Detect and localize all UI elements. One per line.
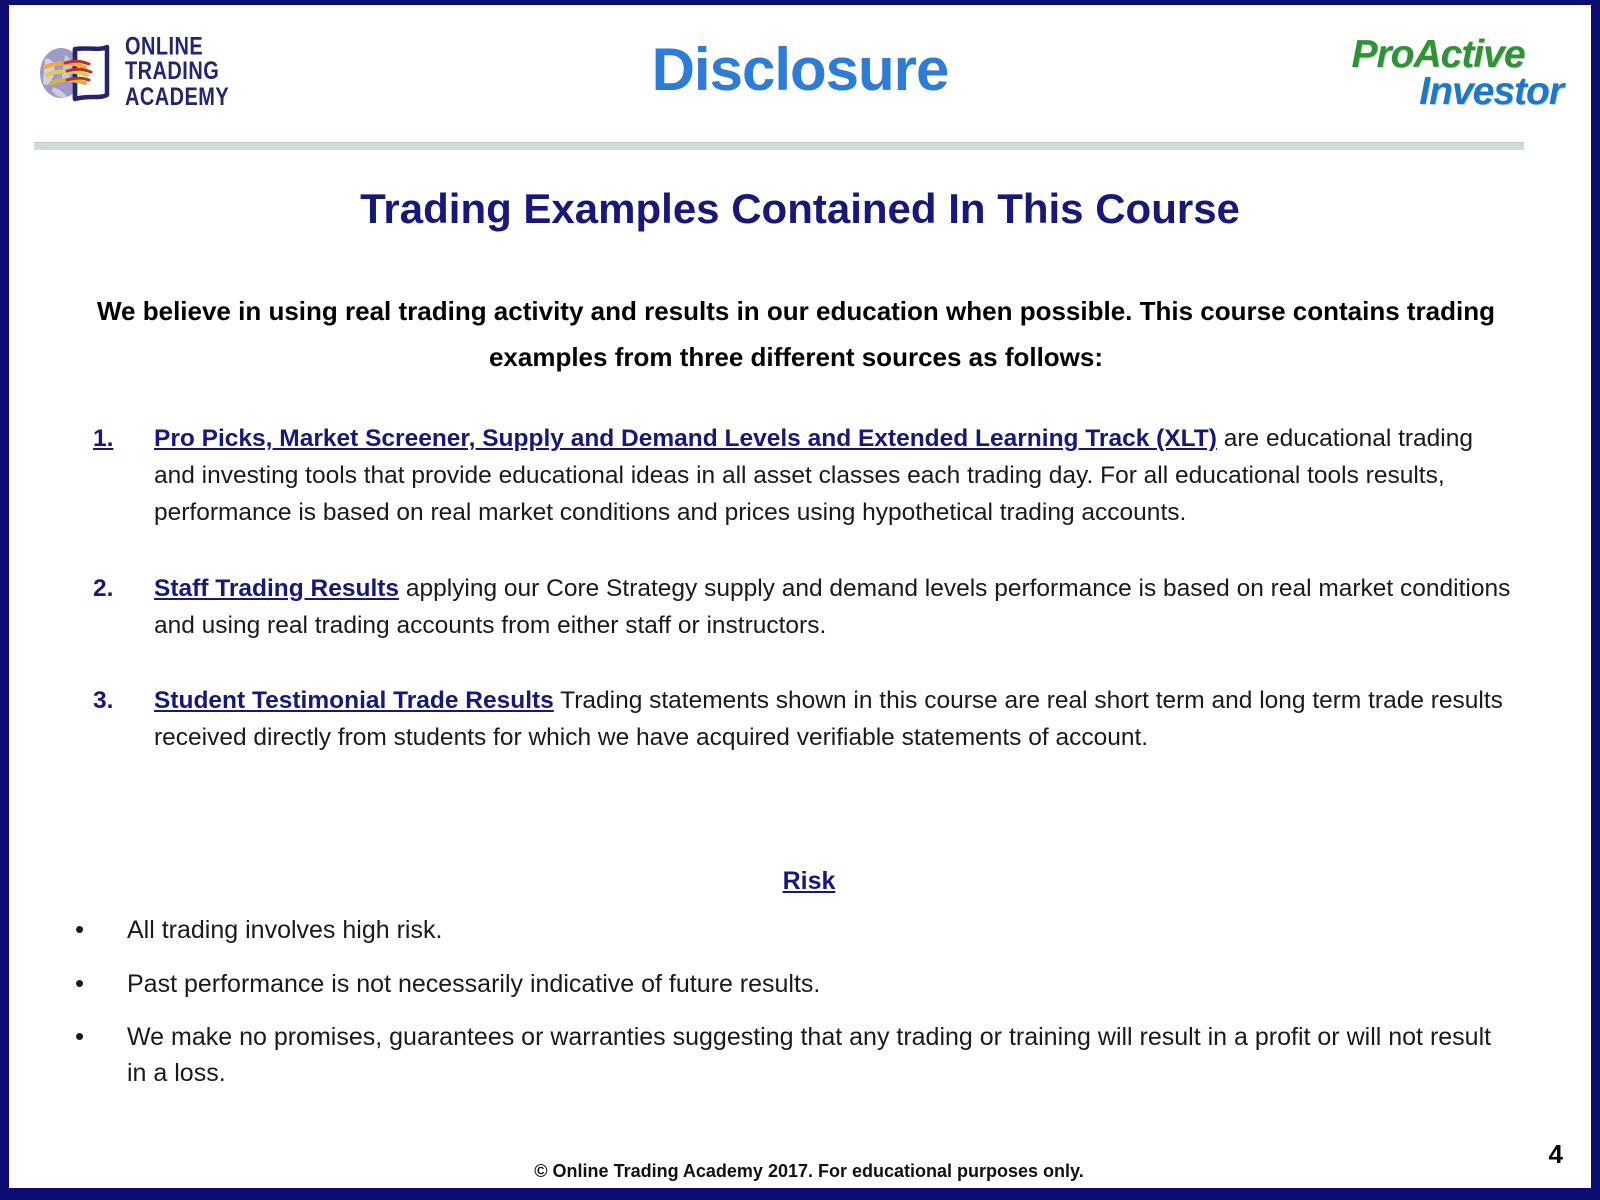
bullet-icon: • [75, 965, 84, 1002]
list-item-marker: 3. [93, 682, 113, 719]
list-item: 3. Student Testimonial Trade Results Tra… [9, 682, 1600, 756]
list-item: • All trading involves high risk. [9, 913, 1600, 949]
bullet-icon: • [75, 1018, 84, 1055]
footer-copyright: © Online Trading Academy 2017. For educa… [9, 1161, 1600, 1182]
slide-header: ONLINE TRADING ACADEMY Disclosure ProAct… [9, 5, 1591, 133]
list-item: • We make no promises, guarantees or war… [9, 1020, 1600, 1091]
section-heading: Trading Examples Contained In This Cours… [9, 185, 1591, 233]
list-item-marker: 2. [93, 570, 113, 607]
list-item: • Past performance is not necessarily in… [9, 967, 1600, 1003]
header-divider [34, 142, 1524, 150]
risk-heading: Risk [9, 867, 1600, 896]
proactive-investor-logo: ProActive Investor [1313, 35, 1563, 117]
risk-bullet-list: • All trading involves high risk. • Past… [9, 913, 1600, 1109]
list-item-text: We make no promises, guarantees or warra… [127, 1023, 1491, 1087]
list-item-text: Past performance is not necessarily indi… [127, 970, 820, 998]
list-item-link[interactable]: Student Testimonial Trade Results [154, 687, 554, 714]
list-item-marker: 1. [93, 420, 113, 457]
list-item-link[interactable]: Staff Trading Results [154, 575, 399, 602]
list-item: 1. Pro Picks, Market Screener, Supply an… [9, 420, 1600, 532]
intro-paragraph: We believe in using real trading activit… [71, 288, 1521, 381]
list-item: 2. Staff Trading Results applying our Co… [9, 570, 1600, 644]
proactive-investor-line1: ProActive [1313, 35, 1563, 74]
numbered-source-list: 1. Pro Picks, Market Screener, Supply an… [9, 420, 1600, 795]
bullet-icon: • [75, 911, 84, 948]
page-number: 4 [1549, 1139, 1563, 1170]
list-item-link[interactable]: Pro Picks, Market Screener, Supply and D… [154, 425, 1217, 452]
list-item-text: All trading involves high risk. [127, 916, 442, 944]
proactive-investor-line2: Investor [1313, 72, 1563, 111]
slide: ONLINE TRADING ACADEMY Disclosure ProAct… [0, 0, 1600, 1200]
